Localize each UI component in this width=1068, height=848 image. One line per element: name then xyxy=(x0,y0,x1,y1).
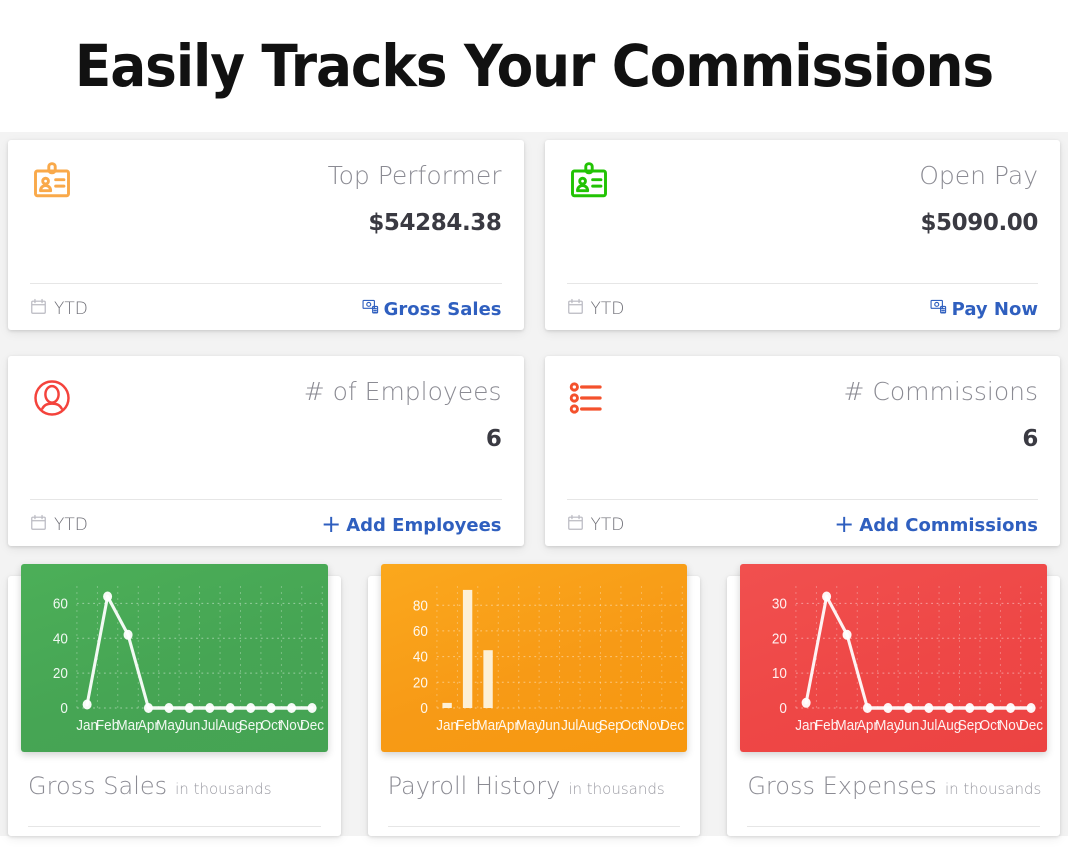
stat-card-values: Open Pay$5090.00 xyxy=(919,160,1038,236)
stat-value: $5090.00 xyxy=(919,210,1038,236)
chart-title: Gross Sales xyxy=(28,772,167,800)
svg-text:Jul: Jul xyxy=(561,717,578,734)
svg-text:Jun: Jun xyxy=(538,717,560,734)
stat-label: # Commissions xyxy=(844,378,1038,406)
period-label: YTD xyxy=(591,299,625,319)
stat-card-grid: Top Performer$54284.38YTDGross SalesOpen… xyxy=(0,132,1068,560)
period-group: YTD xyxy=(567,514,625,536)
stat-value: 6 xyxy=(304,426,502,452)
stat-card-values: Top Performer$54284.38 xyxy=(328,160,502,236)
svg-text:Jan: Jan xyxy=(436,717,458,734)
chart-caption: Payroll Historyin thousands xyxy=(368,772,701,827)
stat-action-link[interactable]: Pay Now xyxy=(930,298,1038,320)
chart-card: 020406080JanFebMarAprMayJunJulAugSepOctN… xyxy=(368,576,701,836)
svg-text:Sep: Sep xyxy=(958,717,982,734)
plus-icon: + xyxy=(834,515,854,534)
svg-text:Jul: Jul xyxy=(201,717,218,734)
svg-text:Jul: Jul xyxy=(920,717,937,734)
stat-card-footer: YTD+Add Commissions xyxy=(567,500,1039,536)
period-label: YTD xyxy=(54,299,88,319)
dashboard-page: Easily Tracks Your Commissions Top Perfo… xyxy=(0,0,1068,848)
svg-text:20: 20 xyxy=(53,665,68,682)
svg-text:Sep: Sep xyxy=(598,717,622,734)
bullet-list-icon xyxy=(567,376,611,420)
money-icon xyxy=(362,298,379,320)
svg-text:Jan: Jan xyxy=(796,717,818,734)
stat-action-link[interactable]: +Add Employees xyxy=(321,515,501,536)
stat-card: Open Pay$5090.00YTDPay Now xyxy=(545,140,1061,330)
period-label: YTD xyxy=(591,515,625,535)
plus-icon: + xyxy=(321,515,341,534)
svg-text:Dec: Dec xyxy=(1019,717,1043,734)
calendar-icon xyxy=(30,514,47,536)
money-icon xyxy=(930,298,947,320)
svg-text:60: 60 xyxy=(53,596,68,613)
period-label: YTD xyxy=(54,515,88,535)
svg-text:0: 0 xyxy=(420,700,428,717)
chart-plot-panel[interactable]: 0204060JanFebMarAprMayJunJulAugSepOctNov… xyxy=(21,564,328,752)
svg-text:0: 0 xyxy=(780,700,788,717)
svg-text:Mar: Mar xyxy=(836,717,860,734)
divider xyxy=(747,826,1040,827)
svg-text:Sep: Sep xyxy=(239,717,263,734)
user-circle-icon xyxy=(30,376,74,420)
stat-value: 6 xyxy=(844,426,1038,452)
stat-label: Top Performer xyxy=(328,162,502,190)
page-title: Easily Tracks Your Commissions xyxy=(75,37,993,95)
divider xyxy=(388,826,681,827)
svg-text:Mar: Mar xyxy=(116,717,140,734)
svg-text:Oct: Oct xyxy=(980,717,1001,734)
svg-text:40: 40 xyxy=(53,631,68,648)
svg-text:Oct: Oct xyxy=(261,717,282,734)
stat-card-top: # Commissions6 xyxy=(567,376,1039,452)
chart-plot-panel[interactable]: 020406080JanFebMarAprMayJunJulAugSepOctN… xyxy=(381,564,688,752)
stat-card-footer: YTDPay Now xyxy=(567,284,1039,320)
svg-text:30: 30 xyxy=(772,596,787,613)
chart-card-grid: 0204060JanFebMarAprMayJunJulAugSepOctNov… xyxy=(0,560,1068,836)
stat-action-label: Add Employees xyxy=(346,515,501,536)
chart-title: Payroll History xyxy=(388,772,561,800)
stat-card-values: # Commissions6 xyxy=(844,376,1038,452)
calendar-icon xyxy=(30,298,47,320)
svg-text:Jun: Jun xyxy=(898,717,920,734)
calendar-icon xyxy=(567,514,584,536)
chart-subtitle: in thousands xyxy=(568,780,664,798)
stat-action-label: Gross Sales xyxy=(384,299,502,320)
svg-text:20: 20 xyxy=(772,631,787,648)
chart-card: 0102030JanFebMarAprMayJunJulAugSepOctNov… xyxy=(727,576,1060,836)
hero-header: Easily Tracks Your Commissions xyxy=(0,0,1068,132)
stat-card: # of Employees6YTD+Add Employees xyxy=(8,356,524,546)
period-group: YTD xyxy=(567,298,625,320)
divider xyxy=(28,826,321,827)
svg-text:0: 0 xyxy=(60,700,68,717)
stat-card-footer: YTD+Add Employees xyxy=(30,500,502,536)
chart-subtitle: in thousands xyxy=(175,780,271,798)
stat-card-top: # of Employees6 xyxy=(30,376,502,452)
stat-action-label: Pay Now xyxy=(952,299,1038,320)
stat-card-top: Top Performer$54284.38 xyxy=(30,160,502,236)
stat-card-top: Open Pay$5090.00 xyxy=(567,160,1039,236)
period-group: YTD xyxy=(30,298,88,320)
stat-value: $54284.38 xyxy=(328,210,502,236)
stat-action-label: Add Commissions xyxy=(859,515,1038,536)
stat-label: # of Employees xyxy=(304,378,502,406)
stat-label: Open Pay xyxy=(919,162,1038,190)
stat-action-link[interactable]: +Add Commissions xyxy=(834,515,1038,536)
svg-text:Mar: Mar xyxy=(476,717,500,734)
stat-card-values: # of Employees6 xyxy=(304,376,502,452)
chart-caption: Gross Salesin thousands xyxy=(8,772,341,827)
chart-caption: Gross Expensesin thousands xyxy=(727,772,1060,827)
chart-subtitle: in thousands xyxy=(945,780,1041,798)
svg-text:Dec: Dec xyxy=(660,717,684,734)
calendar-icon xyxy=(567,298,584,320)
svg-text:60: 60 xyxy=(413,623,428,640)
svg-text:20: 20 xyxy=(413,675,428,692)
svg-text:Jun: Jun xyxy=(178,717,200,734)
chart-card: 0204060JanFebMarAprMayJunJulAugSepOctNov… xyxy=(8,576,341,836)
stat-card: # Commissions6YTD+Add Commissions xyxy=(545,356,1061,546)
id-badge-icon xyxy=(30,160,74,204)
stat-card-footer: YTDGross Sales xyxy=(30,284,502,320)
id-badge-icon xyxy=(567,160,611,204)
svg-text:10: 10 xyxy=(772,665,787,682)
chart-plot-panel[interactable]: 0102030JanFebMarAprMayJunJulAugSepOctNov… xyxy=(740,564,1047,752)
stat-action-link[interactable]: Gross Sales xyxy=(362,298,502,320)
svg-text:Dec: Dec xyxy=(300,717,324,734)
stat-card: Top Performer$54284.38YTDGross Sales xyxy=(8,140,524,330)
svg-text:80: 80 xyxy=(413,598,428,615)
svg-text:Jan: Jan xyxy=(76,717,98,734)
svg-text:40: 40 xyxy=(413,649,428,666)
svg-text:Oct: Oct xyxy=(620,717,641,734)
period-group: YTD xyxy=(30,514,88,536)
chart-title: Gross Expenses xyxy=(747,772,937,800)
